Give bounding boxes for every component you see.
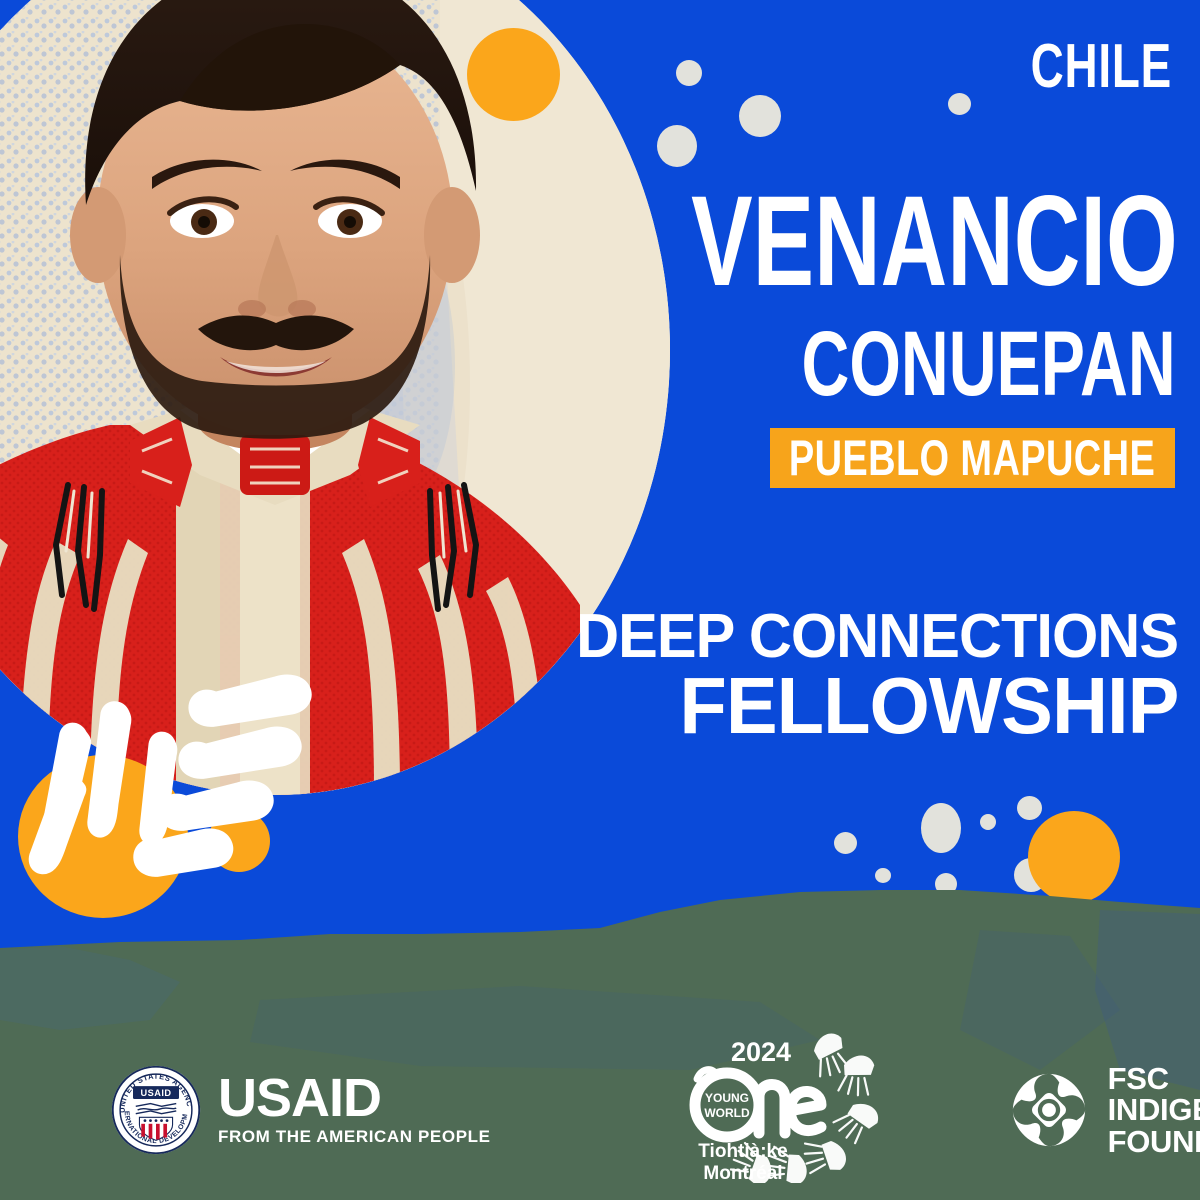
community-badge-label: PUEBLO MAPUCHE	[789, 433, 1155, 483]
oyw-inner-1: YOUNG	[705, 1091, 749, 1105]
fsc-line-2: INDIGENOUS	[1108, 1094, 1200, 1126]
decor-blob	[1017, 796, 1042, 820]
country-label: CHILE	[1031, 36, 1172, 98]
decor-blob	[980, 814, 996, 830]
program-title-line2: FELLOWSHIP	[679, 666, 1178, 746]
decor-blob	[676, 60, 702, 86]
one-young-world-logo: 2024 YOUNG WORLD Tiohtià:ke Montréal	[681, 1033, 881, 1188]
community-badge: PUEBLO MAPUCHE	[770, 428, 1175, 488]
oyw-city-1: Tiohtià:ke	[698, 1141, 787, 1162]
oyw-year: 2024	[731, 1037, 791, 1067]
orange-circle-top	[467, 28, 560, 121]
oyw-mark-icon: 2024 YOUNG WORLD Tiohtià:ke Montréal	[681, 1033, 881, 1183]
fsc-pinwheel-icon	[1006, 1067, 1092, 1153]
fsc-line-3: FOUNDATION	[1108, 1126, 1200, 1158]
decor-blob	[834, 832, 857, 854]
decor-blob	[875, 868, 891, 883]
poster-canvas: CHILE VENANCIO CONUEPAN PUEBLO MAPUCHE D…	[0, 0, 1200, 1200]
hand-palm-icon	[10, 640, 340, 940]
usaid-tagline: FROM THE AMERICAN PEOPLE	[218, 1127, 491, 1147]
oyw-city-2: Montréal	[703, 1163, 782, 1183]
decor-blob	[921, 803, 961, 853]
svg-text:USAID: USAID	[141, 1088, 172, 1098]
usaid-seal-icon: UNITED STATES AGENCY INTERNATIONAL DEVEL…	[110, 1064, 202, 1156]
program-title-line1: DEEP CONNECTIONS	[576, 606, 1178, 668]
fellow-last-name: CONUEPAN	[802, 318, 1176, 410]
usaid-logo: UNITED STATES AGENCY INTERNATIONAL DEVEL…	[110, 1064, 491, 1156]
decor-blob	[739, 95, 781, 137]
oyw-inner-2: WORLD	[704, 1106, 750, 1120]
fsc-logo: FSC INDIGENOUS FOUNDATION	[1006, 1063, 1200, 1158]
fsc-line-1: FSC	[1108, 1063, 1200, 1095]
logo-strip: UNITED STATES AGENCY INTERNATIONAL DEVEL…	[0, 1020, 1200, 1200]
fellow-first-name: VENANCIO	[692, 178, 1178, 306]
decor-blob	[948, 93, 971, 115]
usaid-wordmark: USAID	[218, 1073, 491, 1125]
